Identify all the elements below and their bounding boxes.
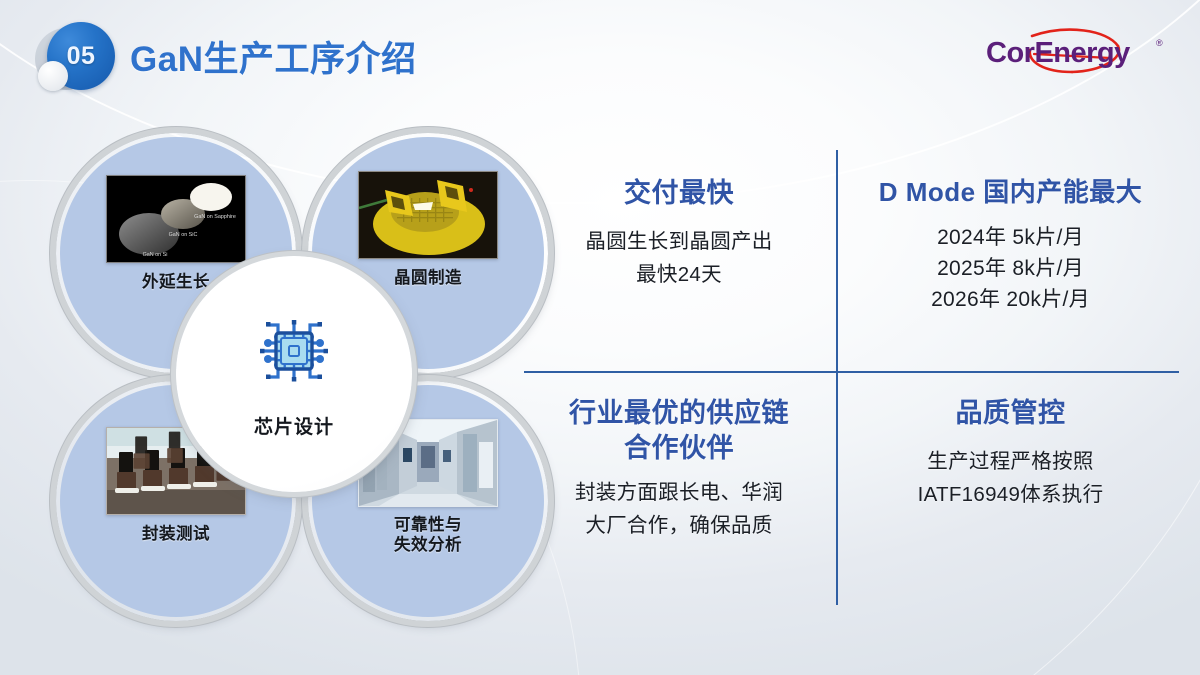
quadrant-vertical-divider xyxy=(836,150,838,605)
quadrant-horizontal-divider xyxy=(524,371,1179,373)
epitaxy-wafers-photo: GaN on Sapphire GaN on SiC GaN on Si xyxy=(106,175,246,263)
quadrant-body: 晶圆生长到晶圆产出 最快24天 xyxy=(524,225,834,291)
badge-number-label: 05 xyxy=(67,42,96,71)
quadrant-supply-chain: 行业最优的供应链 合作伙伴 封装方面跟长电、华润 大厂合作，确保品质 xyxy=(524,396,834,543)
chip-icon xyxy=(246,303,342,404)
process-node-label: 晶圆制造 xyxy=(394,268,462,288)
quadrant-heading: 交付最快 xyxy=(524,176,834,211)
quadrant-body-line: 大厂合作，确保品质 xyxy=(524,509,834,542)
quadrant-body: 2024年 5k片/月 2025年 8k片/月 2026年 20k片/月 xyxy=(842,222,1179,315)
corenergy-logo-svg: CorEnergy ® xyxy=(972,24,1172,82)
quadrant-fastest-delivery: 交付最快 晶圆生长到晶圆产出 最快24天 xyxy=(524,176,834,292)
quadrant-heading-line1: 行业最优的供应链 xyxy=(524,396,834,431)
quadrant-quality-control: 品质管控 生产过程严格按照 IATF16949体系执行 xyxy=(842,396,1179,512)
quadrant-body-line: 最快24天 xyxy=(524,258,834,291)
quadrant-heading: 行业最优的供应链 合作伙伴 xyxy=(524,396,834,466)
quadrant-heading: 品质管控 xyxy=(842,396,1179,431)
quadrant-body-line: IATF16949体系执行 xyxy=(842,478,1179,511)
chip-design-label: 芯片设计 xyxy=(254,412,334,439)
page-title: GaN生产工序介绍 xyxy=(130,31,416,82)
highlights-quadrants: 交付最快 晶圆生长到晶圆产出 最快24天 D Mode 国内产能最大 2024年… xyxy=(524,150,1179,620)
slide-header: 05 GaN生产工序介绍 CorEnergy ® xyxy=(0,0,1200,108)
quadrant-body-line: 封装方面跟长电、华润 xyxy=(524,476,834,509)
quadrant-dmode-capacity: D Mode 国内产能最大 2024年 5k片/月 2025年 8k片/月 20… xyxy=(842,176,1179,315)
process-node-label-line2: 失效分析 xyxy=(394,535,462,555)
process-node-label-line1: 可靠性与 xyxy=(394,515,462,535)
badge-accent-dot-icon xyxy=(38,61,68,91)
corenergy-logo: CorEnergy ® xyxy=(972,24,1172,82)
wafer-prober-photo xyxy=(358,171,498,259)
quadrant-heading-line2: 合作伙伴 xyxy=(524,431,834,466)
quadrant-body-line: 2026年 20k片/月 xyxy=(842,284,1179,315)
section-number-badge: 05 xyxy=(33,20,119,100)
slide-root: 05 GaN生产工序介绍 CorEnergy ® xyxy=(0,0,1200,675)
quadrant-heading: D Mode 国内产能最大 xyxy=(842,176,1179,210)
logo-registered-mark: ® xyxy=(1156,38,1163,48)
process-node-label: 可靠性与 失效分析 xyxy=(394,515,462,555)
thumb-caption-sapphire: GaN on Sapphire xyxy=(194,214,236,220)
thumb-caption-si: GaN on Si xyxy=(143,252,168,258)
quadrant-body-line: 晶圆生长到晶圆产出 xyxy=(524,225,834,258)
process-node-chip-design[interactable]: 芯片设计 xyxy=(176,256,412,492)
thumb-caption-sic: GaN on SiC xyxy=(169,232,198,238)
process-cluster: GaN on Sapphire GaN on SiC GaN on Si 外延生… xyxy=(55,132,510,647)
logo-wordmark: CorEnergy xyxy=(986,37,1130,69)
quadrant-body-line: 2025年 8k片/月 xyxy=(842,253,1179,284)
quadrant-body-line: 生产过程严格按照 xyxy=(842,445,1179,478)
process-node-label: 封装测试 xyxy=(142,524,210,544)
quadrant-body: 封装方面跟长电、华润 大厂合作，确保品质 xyxy=(524,476,834,542)
quadrant-body: 生产过程严格按照 IATF16949体系执行 xyxy=(842,445,1179,511)
quadrant-body-line: 2024年 5k片/月 xyxy=(842,222,1179,253)
process-node-label: 外延生长 xyxy=(142,272,210,292)
